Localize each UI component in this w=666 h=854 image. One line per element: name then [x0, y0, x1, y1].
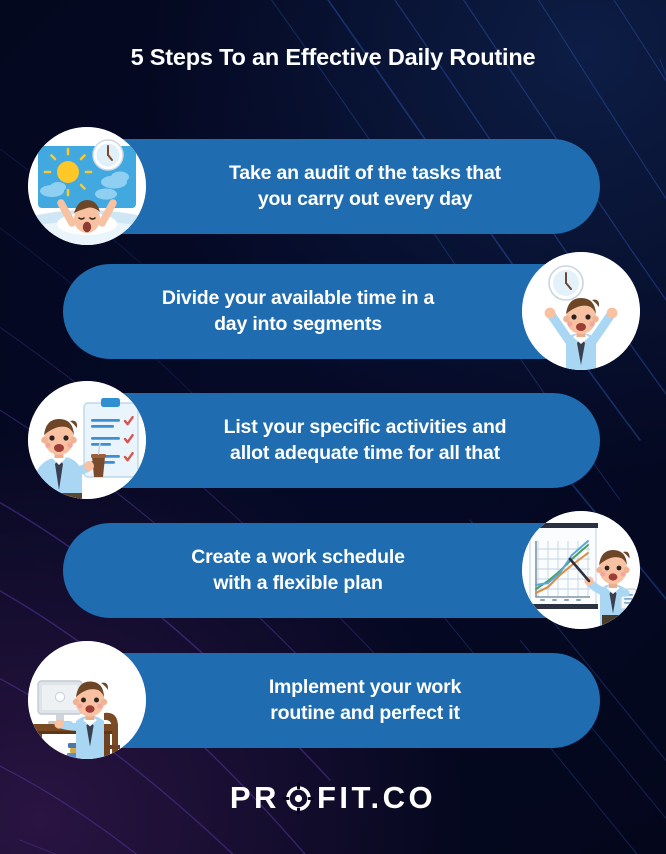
page-title: 5 Steps To an Effective Daily Routine [0, 44, 666, 71]
logo-text-part1: PR [230, 780, 280, 816]
step-pill-2[interactable]: Divide your available time in a day into… [63, 264, 601, 359]
profit-co-logo[interactable]: PR FIT.CO [0, 780, 666, 816]
step-text-1-line2: you carry out every day [258, 188, 472, 210]
step-text-3-line1: List your specific activities and [224, 416, 507, 438]
step-text-2-line1: Divide your available time in a [162, 287, 434, 309]
step-row-4: Create a work schedule with a flexible p… [0, 511, 666, 629]
step-text-4-line1: Create a work schedule [191, 546, 404, 568]
step-text-4-line2: with a flexible plan [213, 572, 382, 594]
clipboard-checklist-icon [28, 381, 146, 499]
target-o-icon [283, 783, 314, 814]
celebrating-man-clock-icon [522, 252, 640, 370]
step-row-2: Divide your available time in a day into… [0, 252, 666, 370]
logo-text-part2: FIT.CO [317, 780, 436, 816]
infographic-poster: 5 Steps To an Effective Daily Routine Ta… [0, 0, 666, 854]
presentation-chart-icon [522, 511, 640, 629]
step-text-5-line1: Implement your work [269, 676, 461, 698]
step-pill-4[interactable]: Create a work schedule with a flexible p… [63, 523, 601, 618]
step-row-1: Take an audit of the tasks that you carr… [0, 127, 666, 245]
step-text-1-line1: Take an audit of the tasks that [229, 162, 501, 184]
step-text-2-line2: day into segments [214, 313, 382, 335]
step-text-4: Create a work schedule with a flexible p… [63, 545, 601, 597]
step-row-5: Implement your work routine and perfect … [0, 641, 666, 759]
step-row-3: List your specific activities and allot … [0, 381, 666, 499]
step-text-5-line2: routine and perfect it [270, 702, 460, 724]
step-text-3-line2: allot adequate time for all that [230, 442, 500, 464]
desk-computer-work-icon [28, 641, 146, 759]
step-text-2: Divide your available time in a day into… [63, 286, 601, 338]
wake-up-morning-icon [28, 127, 146, 245]
